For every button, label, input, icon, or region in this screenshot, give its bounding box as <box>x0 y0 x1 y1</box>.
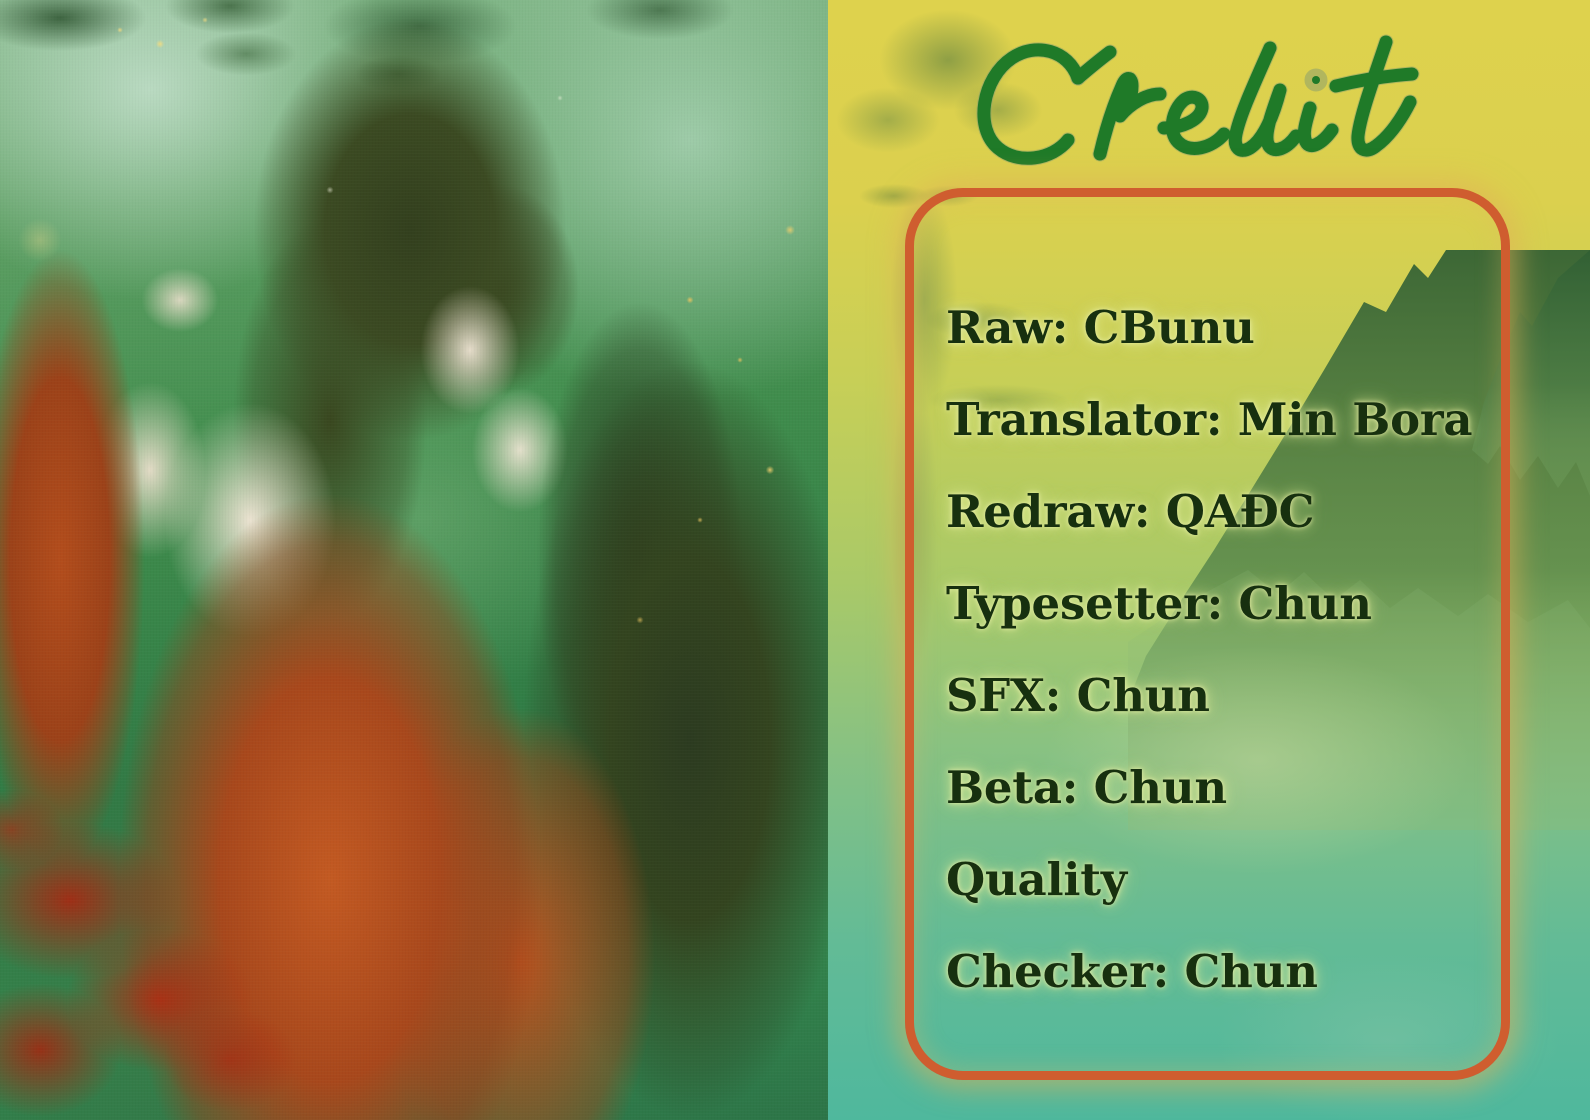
credit-line-beta: Beta: Chun <box>946 742 1546 834</box>
credit-list: Raw: CBunu Translator: Min Bora Redraw: … <box>946 282 1546 1018</box>
credit-line-raw: Raw: CBunu <box>946 282 1546 374</box>
credit-line-redraw: Redraw: QAĐC <box>946 466 1546 558</box>
illustration-panel <box>0 0 828 1120</box>
credit-panel: Raw: CBunu Translator: Min Bora Redraw: … <box>828 0 1590 1120</box>
paper-grain-texture <box>0 0 828 1120</box>
credit-line-typesetter: Typesetter: Chun <box>946 558 1546 650</box>
credit-line-checker: Checker: Chun <box>946 926 1546 1018</box>
page-title <box>946 18 1566 178</box>
credit-line-translator: Translator: Min Bora <box>946 374 1546 466</box>
credit-line-quality: Quality <box>946 834 1546 926</box>
credit-page: Raw: CBunu Translator: Min Bora Redraw: … <box>0 0 1590 1120</box>
credit-line-sfx: SFX: Chun <box>946 650 1546 742</box>
